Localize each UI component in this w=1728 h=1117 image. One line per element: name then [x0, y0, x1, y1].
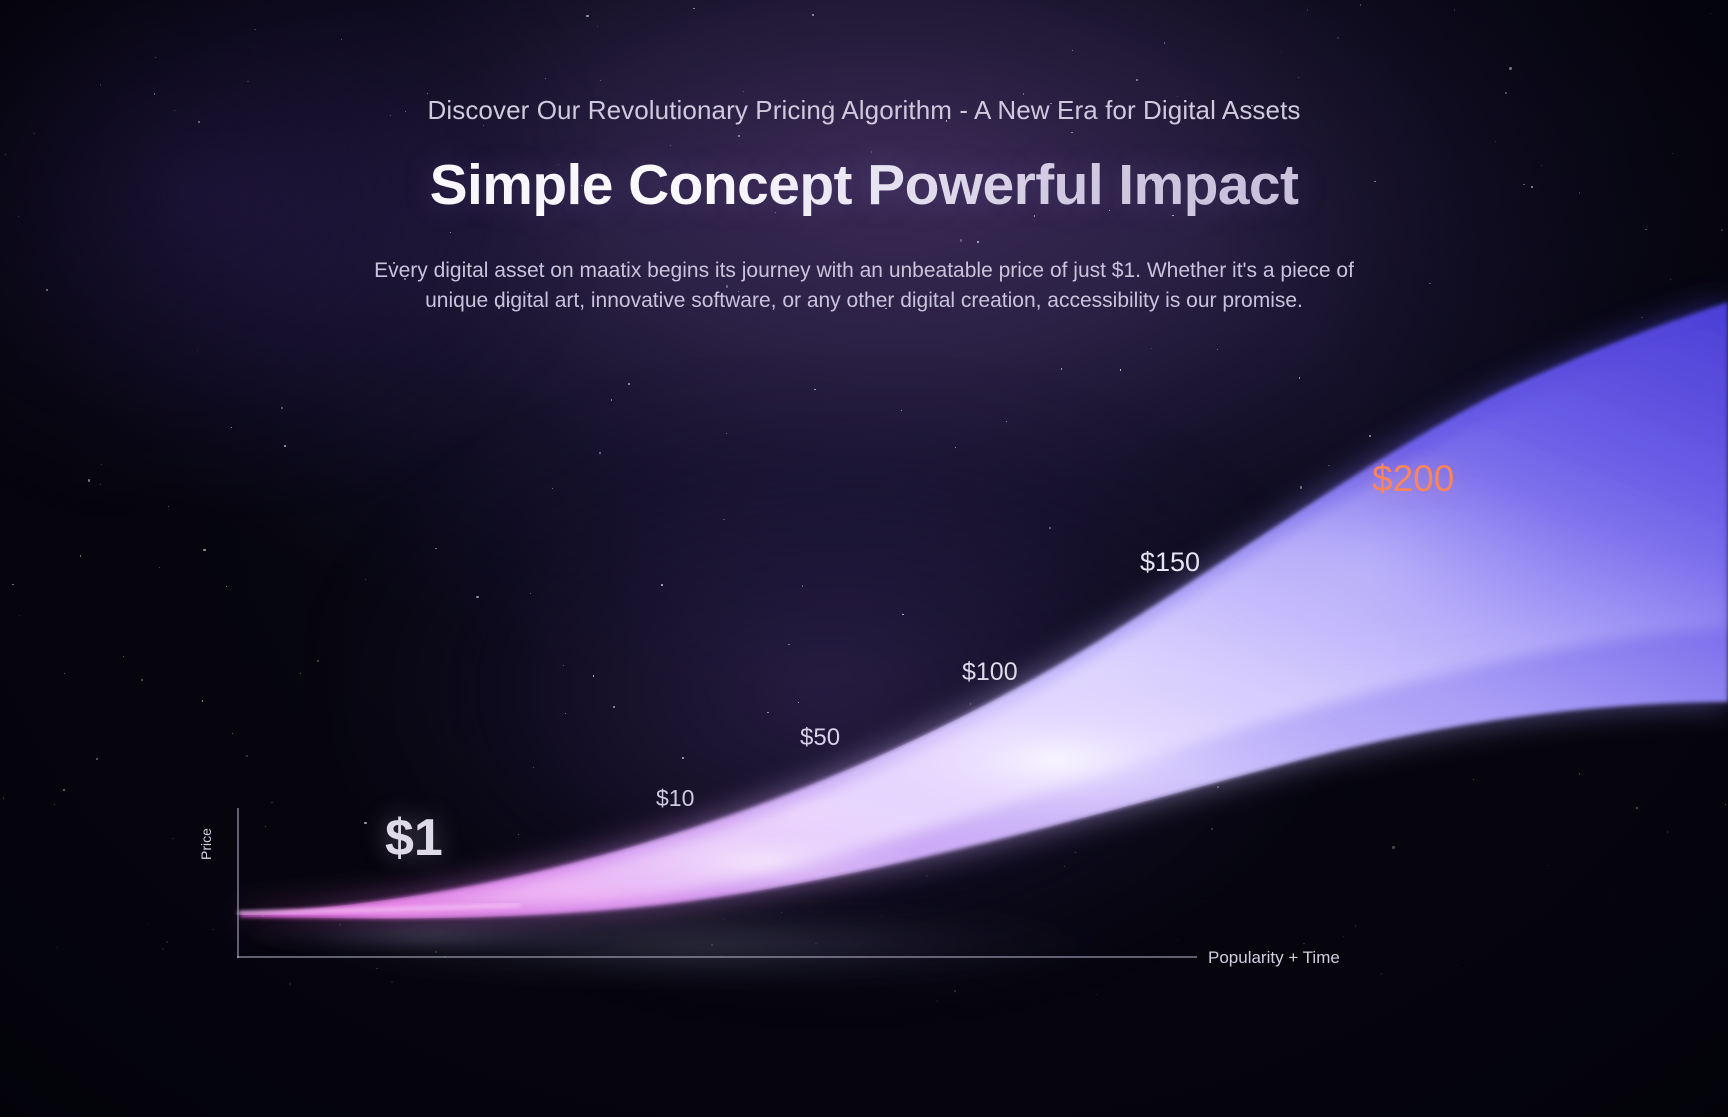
- hero-description: Every digital asset on maatix begins its…: [364, 256, 1364, 316]
- x-axis-line: [237, 956, 1197, 958]
- x-axis-label: Popularity + Time: [1208, 948, 1340, 968]
- pricing-hero-section: Price Popularity + Time $1 $10 $50 $100 …: [0, 0, 1728, 1117]
- y-axis-line: [237, 808, 239, 958]
- hero-header: Discover Our Revolutionary Pricing Algor…: [0, 0, 1728, 316]
- price-label-150: $150: [1140, 547, 1200, 578]
- price-label-200: $200: [1372, 458, 1454, 500]
- price-label-1: $1: [385, 808, 443, 868]
- y-axis-label: Price: [198, 828, 214, 860]
- price-label-10: $10: [656, 785, 694, 812]
- price-label-100: $100: [962, 658, 1018, 687]
- price-label-50: $50: [800, 724, 840, 752]
- page-title: Simple Concept Powerful Impact: [0, 152, 1728, 218]
- hero-eyebrow: Discover Our Revolutionary Pricing Algor…: [0, 95, 1728, 126]
